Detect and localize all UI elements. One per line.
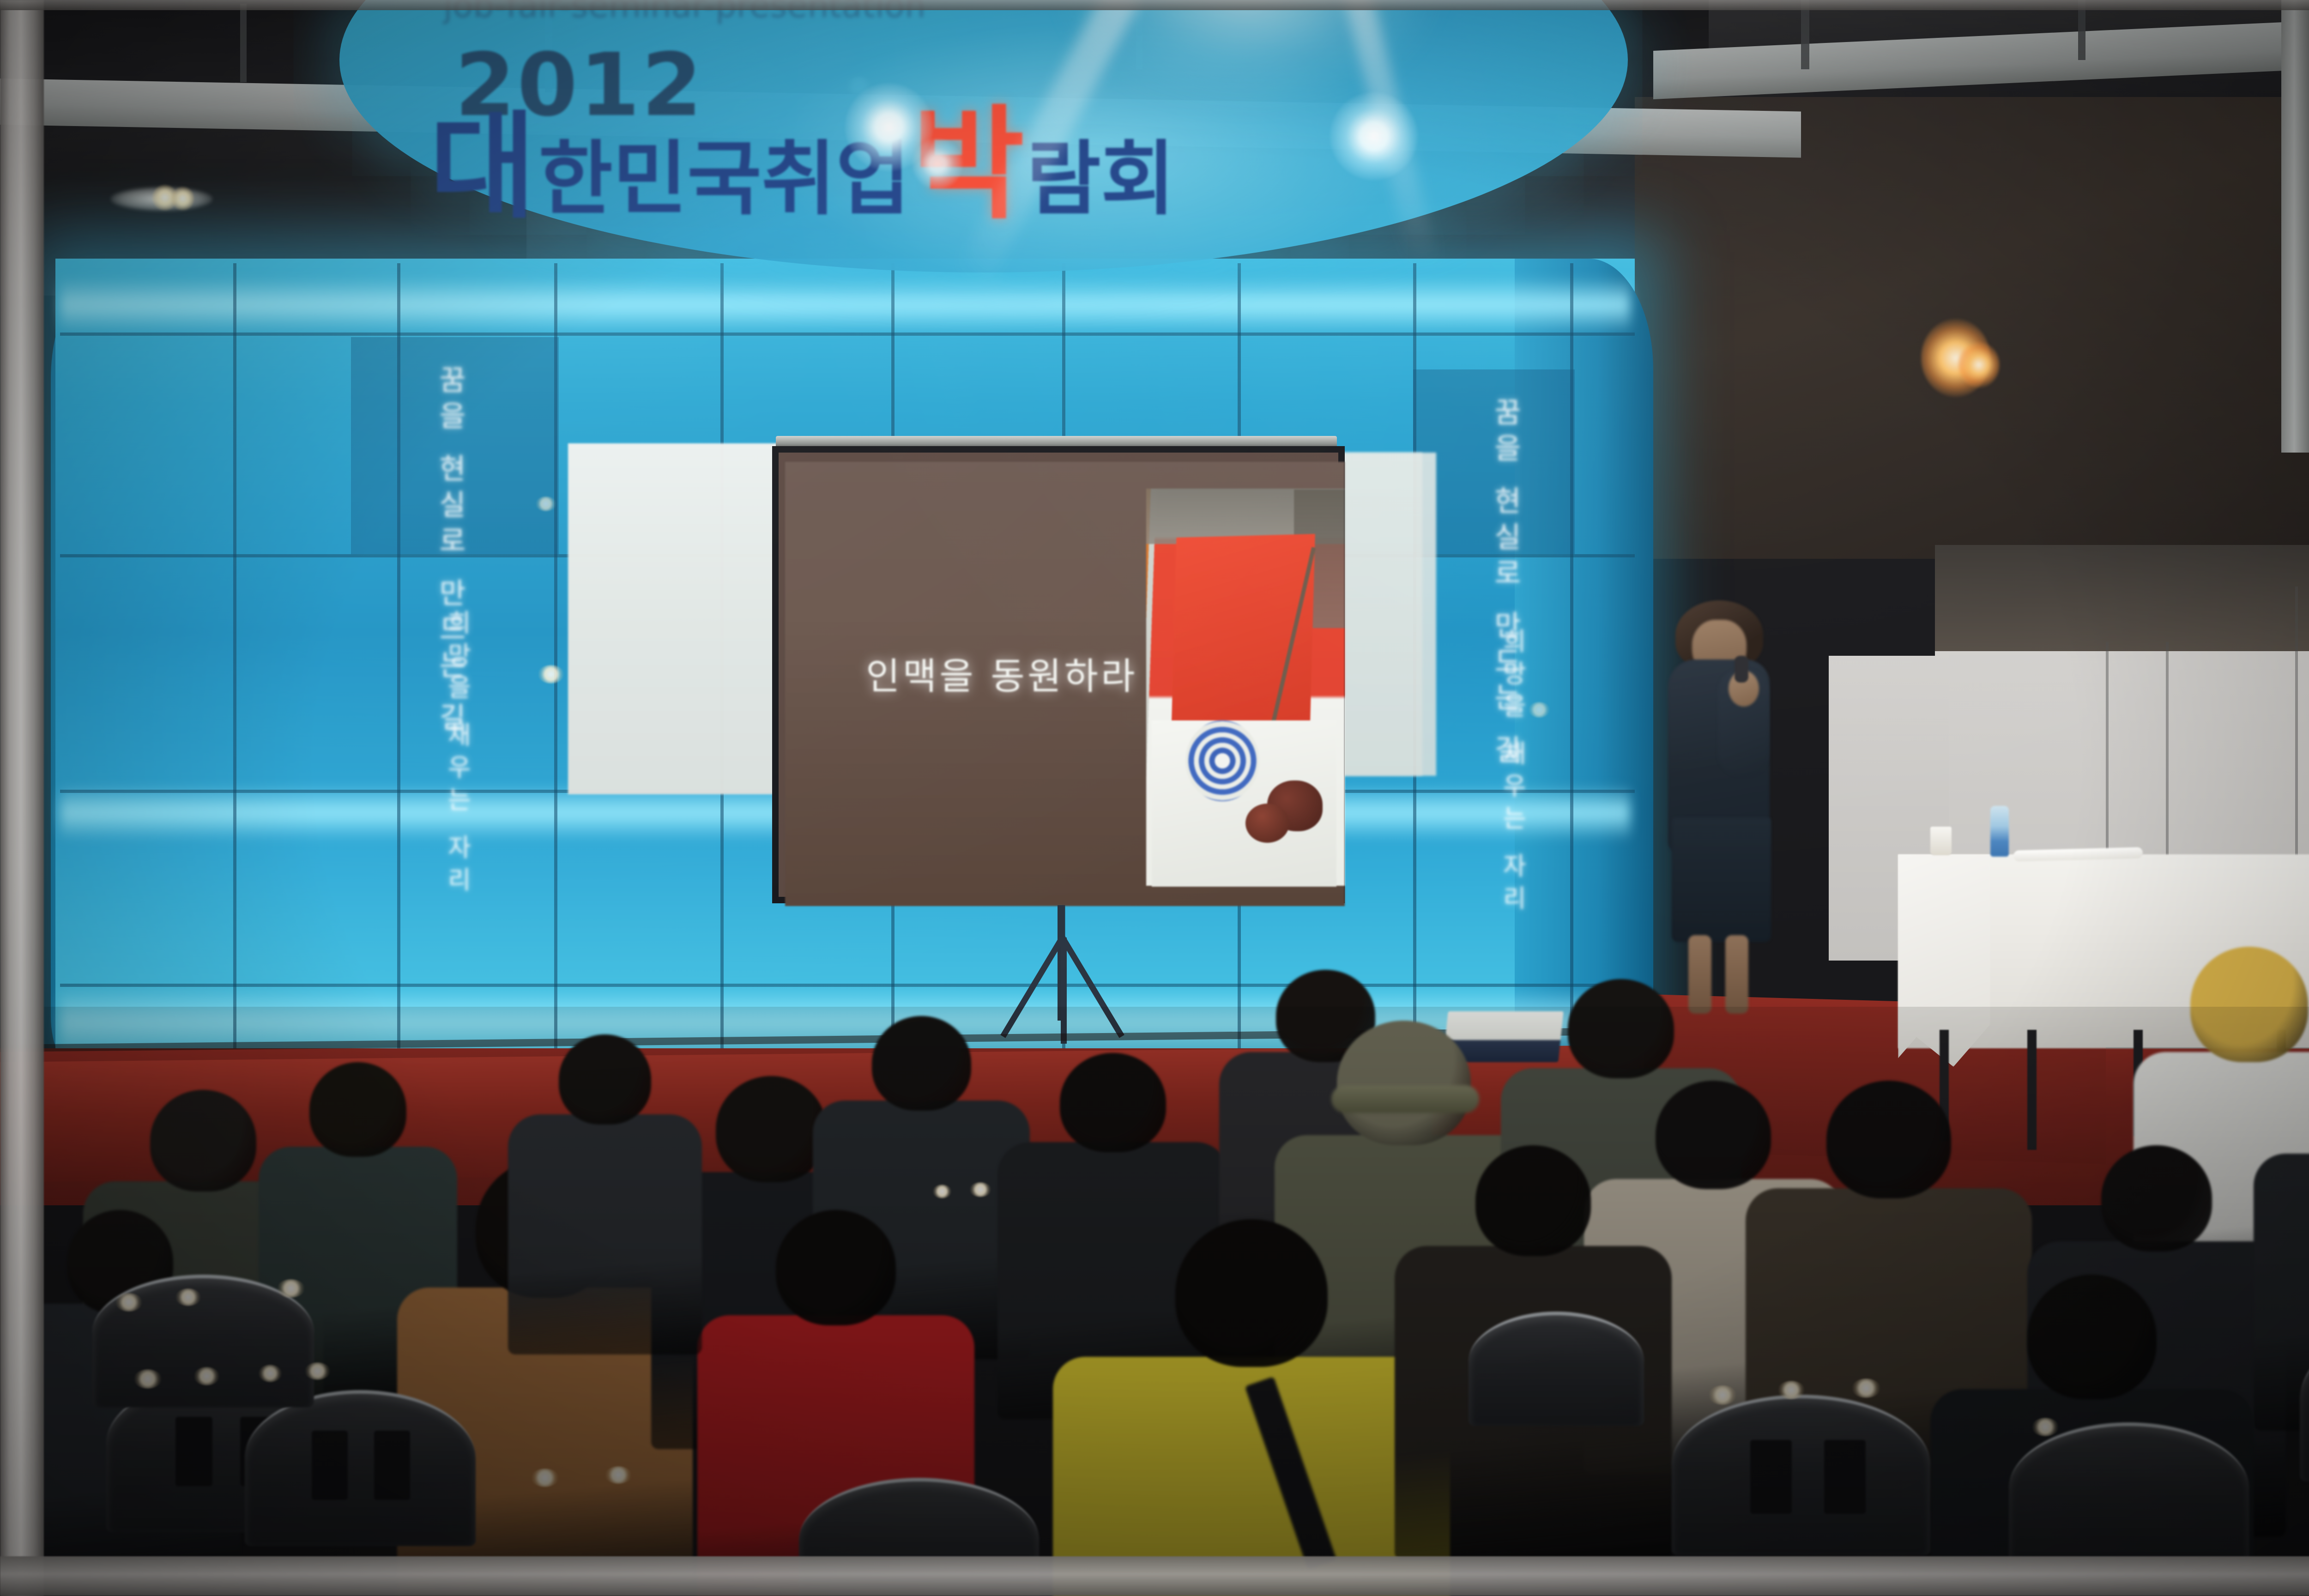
audience-head: [1475, 1145, 1591, 1256]
wall-vertical-text-right-2: 희망을 채우는 자리: [1499, 628, 1525, 924]
chair-chrome-glint-5: [115, 1293, 142, 1312]
audience-head: [2027, 1275, 2157, 1399]
chair-chrome-glint-7: [277, 1279, 305, 1298]
chair-chrome-glint-3: [259, 1365, 282, 1382]
wall-grid-v-1: [233, 263, 236, 1067]
chair-chrome-glint-10: [1852, 1378, 1880, 1398]
chair-slot: [175, 1417, 212, 1486]
chair-chrome-glint-11: [531, 1469, 559, 1487]
slide-photo-dark-object-2: [1245, 804, 1289, 843]
chair-slot: [1750, 1440, 1792, 1514]
partition-top-shadow: [1935, 545, 2309, 651]
audience-head: [1337, 1021, 1471, 1145]
backdrop-glow-band-top: [60, 277, 1630, 332]
ceiling-lamp-2: [172, 187, 194, 211]
chair-chrome-glint-12: [605, 1466, 632, 1484]
audience-head: [1060, 1053, 1166, 1152]
audience-member: [1053, 1219, 1450, 1596]
projection-spill-panel-right: [1330, 453, 1436, 776]
chair-chrome-glint-13: [2032, 1418, 2059, 1436]
audience-head: [1175, 1219, 1328, 1367]
audience-head: [716, 1076, 827, 1182]
chair-chrome-glint-2: [194, 1367, 219, 1385]
water-bottle: [1990, 806, 2009, 857]
audience-torso: [508, 1114, 702, 1354]
speaker-presenter: [1644, 600, 1783, 1016]
wall-highlight-dot-3: [1529, 702, 1550, 718]
audience-member: [2254, 1062, 2309, 1441]
wall-vertical-text-left-2: 희망을 채우는 자리: [443, 610, 470, 914]
wall-grid-h-1: [60, 332, 1635, 336]
projected-slide: 인맥을 동원하라: [785, 462, 1345, 906]
screen-tripod-leg-center: [1061, 937, 1067, 1044]
glass-partition-top-edge: [0, 0, 2309, 10]
glass-partition-bottom-edge: [0, 1556, 2309, 1596]
chair-slot: [1824, 1440, 1866, 1514]
banner-flare-3: [912, 139, 963, 189]
ceiling-truss-4: [1801, 0, 1809, 69]
wall-highlight-dot-1: [538, 665, 564, 683]
chair-slot: [312, 1431, 348, 1500]
microphone-icon: [1735, 656, 1748, 683]
chair-back-7: [1469, 1312, 1644, 1426]
audience-head: [309, 1062, 406, 1157]
ceiling-column-right: [2281, 0, 2309, 453]
slide-headline-text: 인맥을 동원하라: [866, 647, 1138, 700]
chair-chrome-glint-6: [175, 1288, 201, 1306]
chair-chrome-glint-1: [134, 1369, 162, 1389]
glass-partition-left-edge: [0, 0, 44, 1596]
chair-chrome-glint-4: [305, 1362, 330, 1380]
audience-head: [1826, 1081, 1951, 1198]
chair-chrome-glint-15: [933, 1185, 951, 1198]
chair-chrome-glint-8: [1709, 1385, 1736, 1405]
chair-chrome-glint-9: [1778, 1381, 1805, 1399]
chair-slot: [374, 1431, 410, 1500]
screen-frame: 인맥을 동원하라: [772, 446, 1345, 903]
seminar-photograph: 꿈을 현실로 만드는 길 희망을 채우는 자리 꿈을 현실로 만드는 길 희망을…: [0, 0, 2309, 1596]
audience-head: [872, 1016, 971, 1111]
chair-back-5: [2009, 1422, 2249, 1574]
banner-title-char-2: 한민국: [538, 139, 762, 220]
audience-head: [559, 1034, 651, 1124]
ceiling-truss-1: [240, 4, 247, 82]
audience-head: [1568, 979, 1674, 1078]
banner-title-char-1: 대: [429, 109, 536, 225]
paper-cup: [1930, 827, 1952, 855]
audience-head: [2101, 1145, 2212, 1251]
cap-icon: [1331, 1085, 1479, 1113]
audience-head: [776, 1210, 896, 1325]
audience-head: [2190, 947, 2308, 1062]
chair-back-2: [245, 1390, 476, 1546]
audience-member: [508, 1034, 702, 1365]
chair-back-4: [1672, 1395, 1930, 1555]
audience-head: [150, 1090, 256, 1191]
stage-spotlight-right-2: [1958, 342, 2000, 388]
speaker-dress-skirt: [1672, 817, 1771, 942]
projection-screen: 인맥을 동원하라: [772, 443, 1345, 910]
wall-highlight-dot-2: [536, 496, 556, 511]
slide-photo-blue-spiral: [1185, 720, 1259, 801]
chair-chrome-glint-14: [970, 1182, 991, 1197]
